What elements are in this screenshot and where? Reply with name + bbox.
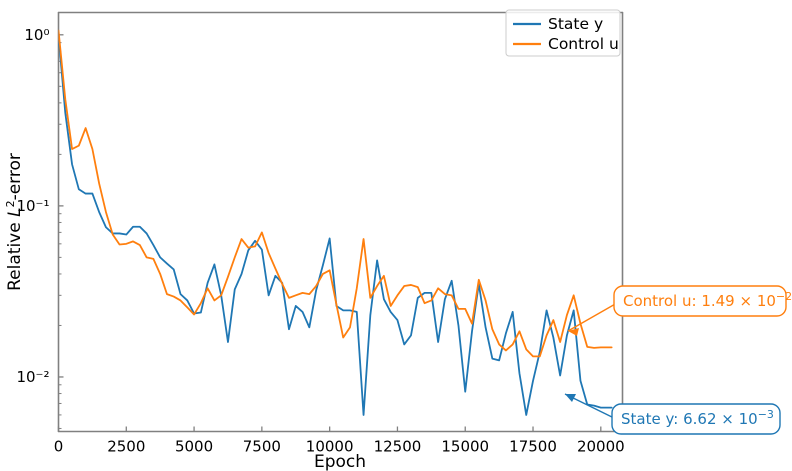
x-axis-title: Epoch	[314, 452, 366, 471]
x-tick-label: 2500	[107, 438, 145, 456]
plot-background	[58, 12, 623, 432]
x-tick-label: 15000	[441, 438, 489, 456]
legend-label-control-u: Control u	[548, 35, 619, 53]
svg-text:Relative L2-error: Relative L2-error	[4, 153, 26, 291]
y-tick-label: 10⁰	[24, 26, 49, 44]
line-chart: 10⁰10⁻¹10⁻² 0250050007500100001250015000…	[0, 0, 792, 471]
legend-label-state-y: State y	[548, 15, 603, 33]
control-annotation-mantissa: 1.49 × 10	[701, 292, 776, 310]
control-annotation-exponent: −2	[776, 290, 792, 303]
x-tick-label: 7500	[243, 438, 281, 456]
x-tick-label: 20000	[577, 438, 625, 456]
y-axis-title: Relative L2-error	[4, 153, 26, 291]
y-axis-title-prefix: Relative	[5, 217, 25, 291]
svg-text:State y: 6.62 × 10−3: State y: 6.62 × 10−3	[621, 408, 774, 429]
state-annotation-exponent: −3	[758, 408, 774, 421]
y-axis-title-suffix: -error	[5, 153, 25, 200]
state-annotation-mantissa: 6.62 × 10	[683, 410, 758, 428]
y-axis-title-symbol: L	[5, 207, 25, 216]
x-tick-label: 0	[54, 438, 64, 456]
x-tick-label: 5000	[175, 438, 213, 456]
state-annotation-label: State y:	[621, 410, 683, 428]
figure-container: 10⁰10⁻¹10⁻² 0250050007500100001250015000…	[0, 0, 792, 471]
x-tick-label: 12500	[374, 438, 422, 456]
legend: State y Control u	[506, 10, 620, 56]
svg-text:Control u: 1.49 × 10−2: Control u: 1.49 × 10−2	[623, 290, 792, 311]
control-annotation-label: Control u:	[623, 292, 701, 310]
y-axis-title-exponent: 2	[4, 200, 17, 207]
y-tick-label: 10⁻²	[16, 368, 49, 386]
x-tick-label: 17500	[509, 438, 557, 456]
